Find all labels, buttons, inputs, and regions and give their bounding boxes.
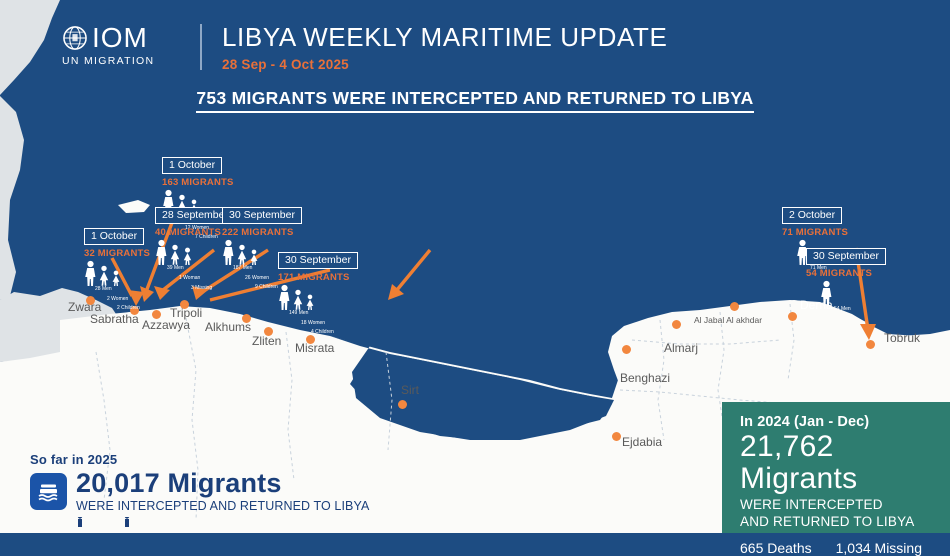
- date-range: 28 Sep - 4 Oct 2025: [222, 57, 667, 72]
- city-label-misrata: Misrata: [295, 341, 334, 355]
- headline-statistic: 753 MIGRANTS WERE INTERCEPTED AND RETURN…: [196, 88, 753, 113]
- missing-count: 1,034 Missing: [836, 540, 922, 556]
- iom-logo: IOM UN MIGRATION: [62, 24, 182, 67]
- callout-date: 2 October: [782, 207, 842, 225]
- man-icon: [155, 239, 168, 265]
- city-label-azzawya: Azzawya: [142, 318, 190, 332]
- globe-icon: [62, 25, 88, 51]
- panel-2024-summary: In 2024 (Jan - Dec) 21,762 Migrants WERE…: [722, 402, 950, 533]
- migrants-2025-subtitle: WERE INTERCEPTED AND RETURNED TO LIBYA: [76, 499, 369, 513]
- callout-figures: 54 Men: [820, 280, 886, 306]
- men-count: 54 Men: [834, 307, 851, 312]
- children-count: 2 Children: [117, 306, 140, 311]
- cutoff-item: [123, 517, 140, 527]
- boat-icon: [30, 473, 67, 510]
- headline-wrap: 753 MIGRANTS WERE INTERCEPTED AND RETURN…: [0, 88, 950, 113]
- men-count: 28 Men: [95, 287, 112, 292]
- city-dot-misrata: [306, 335, 315, 344]
- city-dot-zwara: [86, 296, 95, 305]
- person-icon: [123, 517, 131, 527]
- callout-date: 30 September: [806, 248, 886, 266]
- city-dot-derna: [788, 312, 797, 321]
- callout-date: 30 September: [222, 207, 302, 225]
- man-icon: [222, 239, 235, 265]
- panel-2025-cutoff-row: [76, 517, 369, 527]
- iom-wordmark: IOM: [92, 24, 148, 52]
- woman-icon: [236, 244, 248, 265]
- person-icon: [76, 517, 84, 527]
- callout-54-migrants: 30 September 54 MIGRANTS 54 Men: [806, 246, 886, 306]
- child-icon: [249, 249, 259, 265]
- migrants-2024-count: 21,762 Migrants: [740, 431, 950, 494]
- iom-tagline: UN MIGRATION: [62, 55, 182, 67]
- missing-person-icon: [182, 247, 193, 265]
- callout-total: 54 MIGRANTS: [806, 268, 886, 279]
- callout-date: 1 October: [162, 157, 222, 175]
- city-label-benghazi: Benghazi: [620, 371, 670, 385]
- child-icon: [111, 270, 121, 286]
- city-label-ejdabia: Ejdabia: [622, 435, 662, 449]
- men-count: 187 Men: [233, 266, 252, 271]
- woman-icon: [292, 289, 304, 310]
- city-dot-aljabal: [730, 302, 739, 311]
- children-count: 9 Children: [255, 285, 278, 290]
- city-dot-sirt: [398, 400, 407, 409]
- men-count: 149 Men: [289, 311, 308, 316]
- city-dot-alkhums: [242, 314, 251, 323]
- women-count: 2 Women: [107, 297, 128, 302]
- callout-total: 71 MIGRANTS: [782, 227, 848, 238]
- header-divider: [200, 24, 202, 70]
- cutoff-item: [76, 517, 93, 527]
- panel-2024-line2: AND RETURNED TO LIBYA: [740, 513, 950, 530]
- city-label-sirt: Sirt: [401, 383, 419, 397]
- city-label-aljabal-alakhdar: Al Jabal Al akhdar: [694, 315, 762, 325]
- callout-171-migrants: 30 September 171 MIGRANTS 149 Men 18 Wom…: [278, 250, 361, 310]
- woman-icon: [98, 265, 110, 286]
- callout-total: 171 MIGRANTS: [278, 272, 361, 283]
- city-dot-benghazi: [622, 345, 631, 354]
- migrants-2025-count: 20,017 Migrants: [76, 470, 369, 498]
- so-far-label: So far in 2025: [30, 452, 369, 467]
- title-block: LIBYA WEEKLY MARITIME UPDATE 28 Sep - 4 …: [222, 22, 667, 72]
- city-dot-zliten: [264, 327, 273, 336]
- page-title: LIBYA WEEKLY MARITIME UPDATE: [222, 22, 667, 53]
- callout-total: 163 MIGRANTS: [162, 177, 247, 188]
- missing-count: 3 Missing: [191, 286, 212, 291]
- callout-figures: 149 Men 18 Women 4 Children: [278, 284, 361, 310]
- man-icon: [84, 260, 97, 286]
- city-dot-azzawya: [152, 310, 161, 319]
- callout-date: 30 September: [278, 252, 358, 270]
- man-icon: [278, 284, 291, 310]
- child-icon: [305, 294, 315, 310]
- deaths-count: 665 Deaths: [740, 540, 812, 556]
- city-dot-tobruk: [866, 340, 875, 349]
- infographic-canvas: IOM UN MIGRATION LIBYA WEEKLY MARITIME U…: [0, 0, 950, 533]
- callout-32-migrants: 1 October 32 MIGRANTS 28 Men 2 Women 2 C…: [84, 226, 165, 286]
- men-count: 39 Men: [167, 266, 184, 271]
- header: IOM UN MIGRATION LIBYA WEEKLY MARITIME U…: [0, 0, 950, 82]
- man-icon: [820, 280, 833, 306]
- panel-2024-title: In 2024 (Jan - Dec): [740, 414, 950, 430]
- city-label-zliten: Zliten: [252, 334, 281, 348]
- city-dot-ejdabia: [612, 432, 621, 441]
- children-count: 4 Children: [311, 330, 334, 335]
- panel-2025-summary: So far in 2025 20,017 Migrants WERE INTE…: [30, 452, 369, 527]
- women-count: 1 Woman: [179, 276, 200, 281]
- women-count: 18 Women: [301, 321, 325, 326]
- city-dot-tripoli: [180, 300, 189, 309]
- women-count: 26 Women: [245, 276, 269, 281]
- city-dot-almarj: [672, 320, 681, 329]
- callout-total: 32 MIGRANTS: [84, 248, 165, 259]
- callout-total: 222 MIGRANTS: [222, 227, 305, 238]
- city-label-almarj: Almarj: [664, 341, 698, 355]
- woman-icon: [169, 244, 181, 265]
- callout-figures: 28 Men 2 Women 2 Children: [84, 260, 165, 286]
- city-label-tobruk: Tobruk: [884, 331, 920, 345]
- panel-2024-line1: WERE INTERCEPTED: [740, 496, 950, 513]
- callout-date: 1 October: [84, 228, 144, 246]
